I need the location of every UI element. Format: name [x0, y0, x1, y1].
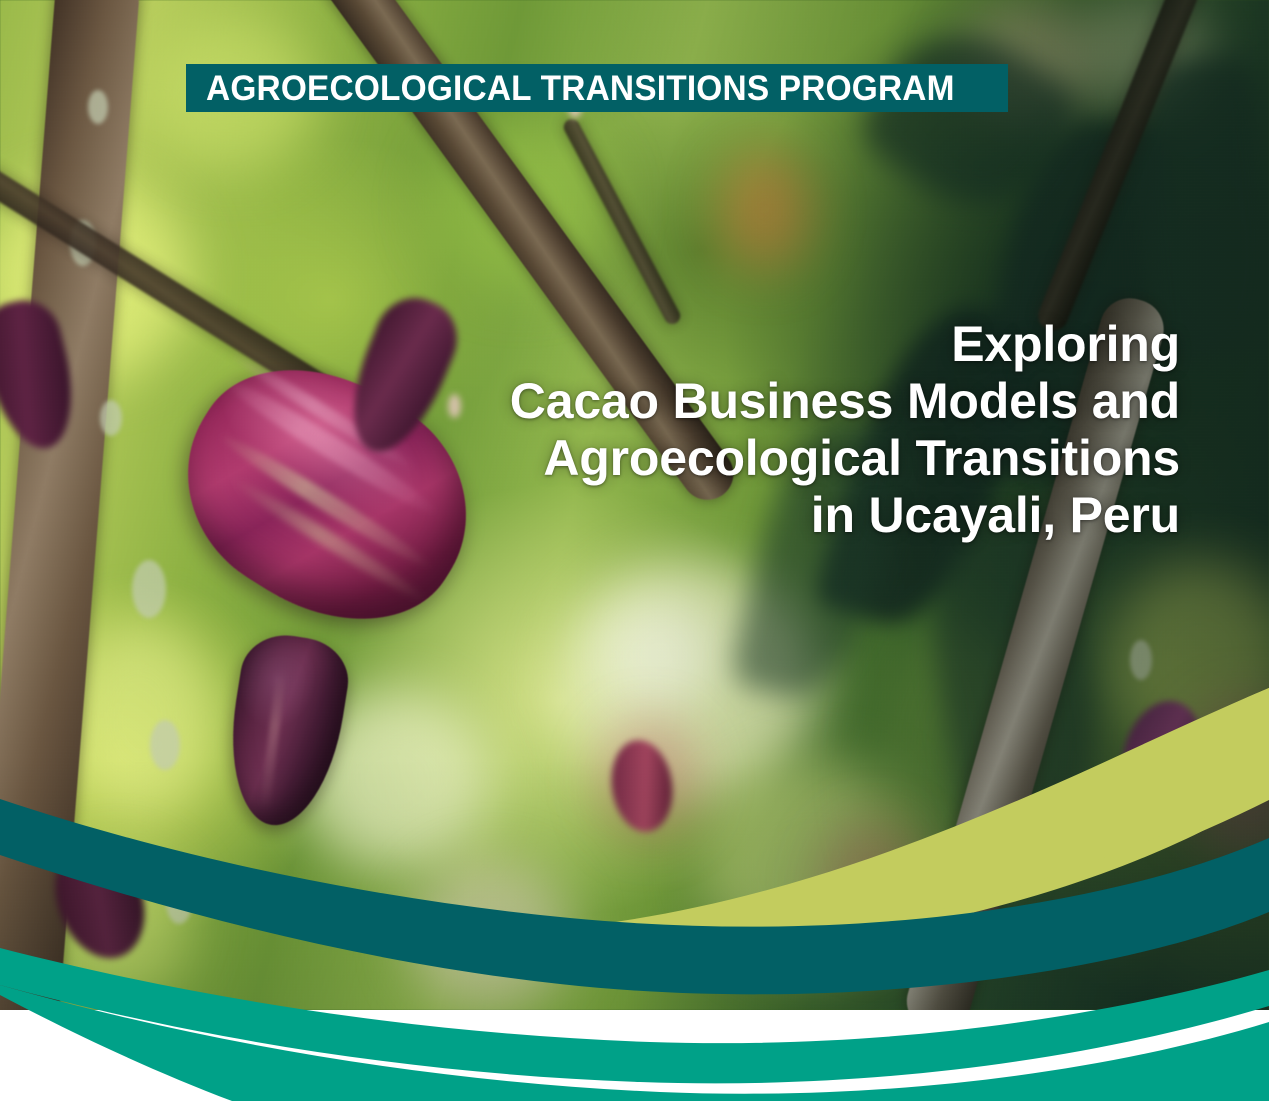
program-banner: AGROECOLOGICAL TRANSITIONS PROGRAM — [186, 64, 1008, 112]
bark-lichen — [1130, 640, 1152, 680]
title-line-2: Cacao Business Models and — [420, 373, 1180, 430]
bark-lichen — [132, 560, 166, 618]
title-line-1: Exploring — [420, 316, 1180, 373]
page-title: Exploring Cacao Business Models and Agro… — [420, 316, 1180, 544]
title-line-3: Agroecological Transitions — [420, 430, 1180, 487]
bark-lichen — [88, 90, 108, 124]
program-banner-label: AGROECOLOGICAL TRANSITIONS PROGRAM — [206, 71, 955, 106]
report-cover: AGROECOLOGICAL TRANSITIONS PROGRAM Explo… — [0, 0, 1269, 1101]
bark-lichen — [166, 880, 192, 924]
title-line-4: in Ucayali, Peru — [420, 487, 1180, 544]
bark-lichen — [150, 720, 180, 770]
bark-lichen — [100, 400, 122, 436]
